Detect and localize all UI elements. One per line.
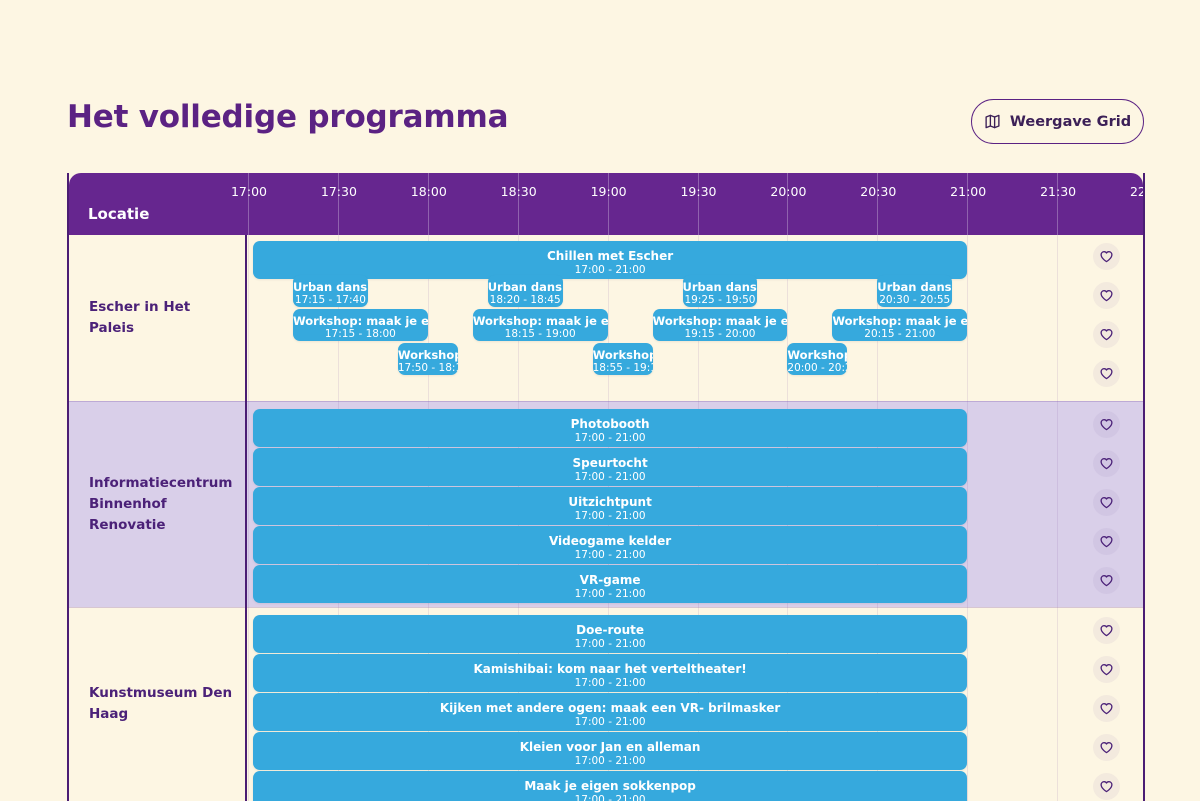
time-tick: 19:00 (608, 173, 609, 235)
event-time: 17:00 - 21:00 (253, 755, 967, 767)
event-title: Photobooth (253, 417, 967, 431)
event-time: 17:00 - 21:00 (253, 471, 967, 483)
heart-icon (1099, 327, 1114, 342)
event-time: 18:55 - 19:15 (593, 362, 653, 374)
event-title: Workshop: maak je eigen fantasiewezen (653, 314, 788, 328)
event-block[interactable]: Chillen met Escher17:00 - 21:00 (253, 241, 967, 279)
event-time: 19:25 - 19:50 (683, 294, 758, 306)
grid-line (248, 235, 249, 401)
event-time: 20:30 - 20:55 (877, 294, 952, 306)
time-tick-label: 18:30 (501, 184, 537, 199)
favorite-button[interactable] (1093, 656, 1120, 683)
event-title: Urban dans met Jing 'Juicy' Yi (683, 280, 758, 294)
grid-line (967, 401, 968, 607)
event-title: Uitzichtpunt (253, 495, 967, 509)
event-title: VR-game (253, 573, 967, 587)
event-title: Workshop rap! (787, 348, 847, 362)
event-time: 17:15 - 18:00 (293, 328, 428, 340)
heart-icon (1099, 740, 1114, 755)
location-column-divider (245, 607, 247, 801)
event-block[interactable]: Videogame kelder17:00 - 21:00 (253, 526, 967, 564)
event-block[interactable]: Photobooth17:00 - 21:00 (253, 409, 967, 447)
heart-icon (1099, 623, 1114, 638)
event-block[interactable]: Workshop: maak je eigen fantasiewezen19:… (653, 309, 788, 341)
event-block[interactable]: VR-game17:00 - 21:00 (253, 565, 967, 603)
event-block[interactable]: Speurtocht17:00 - 21:00 (253, 448, 967, 486)
event-time: 17:00 - 21:00 (253, 510, 967, 522)
event-time: 17:50 - 18:10 (398, 362, 458, 374)
event-block[interactable]: Urban dans met Jing 'Juicy' Yi17:15 - 17… (293, 275, 368, 307)
event-time: 18:15 - 19:00 (473, 328, 608, 340)
event-block[interactable]: Workshop: maak je eigen fantasiewezen20:… (832, 309, 967, 341)
event-block[interactable]: Uitzichtpunt17:00 - 21:00 (253, 487, 967, 525)
event-block[interactable]: Workshop: maak je eigen fantasiewezen18:… (473, 309, 608, 341)
grid-line (248, 401, 249, 607)
event-time: 19:15 - 20:00 (653, 328, 788, 340)
favorite-button[interactable] (1093, 411, 1120, 438)
location-name: Escher in Het Paleis (89, 297, 239, 339)
heart-icon (1099, 662, 1114, 677)
time-tick: 18:30 (518, 173, 519, 235)
event-block[interactable]: Workshop rap!20:00 - 20:20 (787, 343, 847, 375)
grid-line (967, 607, 968, 801)
grid-line (1057, 401, 1058, 607)
heart-icon (1099, 456, 1114, 471)
heart-icon (1099, 249, 1114, 264)
grid-line (967, 235, 968, 401)
heart-icon (1099, 701, 1114, 716)
time-tick-label: 19:30 (680, 184, 716, 199)
event-time: 20:15 - 21:00 (832, 328, 967, 340)
grid-line (1057, 607, 1058, 801)
event-block[interactable]: Kijken met andere ogen: maak een VR- bri… (253, 693, 967, 731)
time-tick: 20:30 (877, 173, 878, 235)
event-title: Maak je eigen sokkenpop (253, 779, 967, 793)
time-tick: 18:00 (428, 173, 429, 235)
event-block[interactable]: Workshop rap!18:55 - 19:15 (593, 343, 653, 375)
location-row: Escher in Het PaleisChillen met Escher17… (69, 235, 1143, 401)
event-title: Workshop rap! (593, 348, 653, 362)
location-row: Informatiecentrum Binnenhof RenovatiePho… (69, 401, 1143, 607)
event-time: 17:00 - 21:00 (253, 588, 967, 600)
event-title: Workshop rap! (398, 348, 458, 362)
event-time: 17:00 - 21:00 (253, 716, 967, 728)
view-toggle-label: Weergave Grid (1010, 114, 1131, 130)
grid-line (248, 607, 249, 801)
map-icon (984, 113, 1001, 130)
event-title: Chillen met Escher (253, 249, 967, 263)
timeline-header: Locatie 17:0017:3018:0018:3019:0019:3020… (69, 173, 1143, 235)
page-title: Het volledige programma (67, 99, 508, 135)
time-tick: 21:00 (967, 173, 968, 235)
event-title: Urban dans met Jing 'Juicy' Yi (877, 280, 952, 294)
favorite-button[interactable] (1093, 567, 1120, 594)
event-title: Videogame kelder (253, 534, 967, 548)
favorite-button[interactable] (1093, 773, 1120, 800)
programma-grid: Locatie 17:0017:3018:0018:3019:0019:3020… (67, 173, 1145, 801)
time-tick: 17:30 (338, 173, 339, 235)
heart-icon (1099, 417, 1114, 432)
event-title: Workshop: maak je eigen fantasiewezen (473, 314, 608, 328)
event-time: 17:00 - 21:00 (253, 432, 967, 444)
time-tick-label: 18:00 (411, 184, 447, 199)
event-title: Speurtocht (253, 456, 967, 470)
event-time: 17:00 - 21:00 (253, 549, 967, 561)
event-title: Workshop: maak je eigen fantasiewezen (832, 314, 967, 328)
event-block[interactable]: Workshop rap!17:50 - 18:10 (398, 343, 458, 375)
heart-icon (1099, 366, 1114, 381)
event-block[interactable]: Workshop: maak je eigen fantasiewezen17:… (293, 309, 428, 341)
location-column-divider (245, 401, 247, 607)
favorite-button[interactable] (1093, 360, 1120, 387)
time-tick: 19:30 (698, 173, 699, 235)
event-block[interactable]: Urban dans met Jing 'Juicy' Yi20:30 - 20… (877, 275, 952, 307)
favorite-button[interactable] (1093, 450, 1120, 477)
time-tick-label: 17:00 (231, 184, 267, 199)
programma-page: Het volledige programma Weergave Grid Lo… (0, 0, 1200, 801)
event-block[interactable]: Urban dans met Jing 'Juicy' Yi19:25 - 19… (683, 275, 758, 307)
event-time: 17:00 - 21:00 (253, 794, 967, 801)
heart-icon (1099, 779, 1114, 794)
favorite-button[interactable] (1093, 489, 1120, 516)
event-time: 18:20 - 18:45 (488, 294, 563, 306)
time-tick: 21:30 (1057, 173, 1058, 235)
event-block[interactable]: Urban dans met Jing 'Juicy' Yi18:20 - 18… (488, 275, 563, 307)
event-time: 17:00 - 21:00 (253, 677, 967, 689)
time-tick-label: 21:30 (1040, 184, 1076, 199)
event-time: 17:15 - 17:40 (293, 294, 368, 306)
row-divider (69, 401, 1143, 402)
location-name: Kunstmuseum Den Haag (89, 683, 239, 725)
time-tick: 17:00 (248, 173, 249, 235)
event-time: 17:00 - 21:00 (253, 638, 967, 650)
favorite-button[interactable] (1093, 243, 1120, 270)
event-block[interactable]: Kleien voor Jan en alleman17:00 - 21:00 (253, 732, 967, 770)
time-tick: 20:00 (787, 173, 788, 235)
grid-line (1057, 235, 1058, 401)
event-title: Kamishibai: kom naar het verteltheater! (253, 662, 967, 676)
time-tick-label: 22:00 (1130, 184, 1143, 199)
event-title: Urban dans met Jing 'Juicy' Yi (488, 280, 563, 294)
event-block[interactable]: Maak je eigen sokkenpop17:00 - 21:00 (253, 771, 967, 801)
time-tick-label: 20:00 (770, 184, 806, 199)
event-block[interactable]: Doe-route17:00 - 21:00 (253, 615, 967, 653)
time-tick-label: 19:00 (591, 184, 627, 199)
view-toggle-button[interactable]: Weergave Grid (971, 99, 1144, 144)
event-title: Doe-route (253, 623, 967, 637)
heart-icon (1099, 534, 1114, 549)
event-title: Kleien voor Jan en alleman (253, 740, 967, 754)
location-name: Informatiecentrum Binnenhof Renovatie (89, 473, 239, 536)
heart-icon (1099, 495, 1114, 510)
event-title: Workshop: maak je eigen fantasiewezen (293, 314, 428, 328)
event-block[interactable]: Kamishibai: kom naar het verteltheater!1… (253, 654, 967, 692)
row-divider (69, 607, 1143, 608)
heart-icon (1099, 573, 1114, 588)
time-tick-label: 17:30 (321, 184, 357, 199)
event-title: Urban dans met Jing 'Juicy' Yi (293, 280, 368, 294)
grid-body: Escher in Het PaleisChillen met Escher17… (69, 235, 1143, 801)
favorite-button[interactable] (1093, 528, 1120, 555)
location-column-divider (245, 235, 247, 401)
favorite-button[interactable] (1093, 617, 1120, 644)
location-row: Kunstmuseum Den HaagDoe-route17:00 - 21:… (69, 607, 1143, 801)
heart-icon (1099, 288, 1114, 303)
favorite-button[interactable] (1093, 321, 1120, 348)
favorite-button[interactable] (1093, 282, 1120, 309)
event-time: 20:00 - 20:20 (787, 362, 847, 374)
event-title: Kijken met andere ogen: maak een VR- bri… (253, 701, 967, 715)
favorite-button[interactable] (1093, 695, 1120, 722)
time-tick-label: 20:30 (860, 184, 896, 199)
page-header: Het volledige programma Weergave Grid (0, 0, 1200, 170)
favorite-button[interactable] (1093, 734, 1120, 761)
location-column-header: Locatie (88, 205, 149, 223)
time-tick-label: 21:00 (950, 184, 986, 199)
